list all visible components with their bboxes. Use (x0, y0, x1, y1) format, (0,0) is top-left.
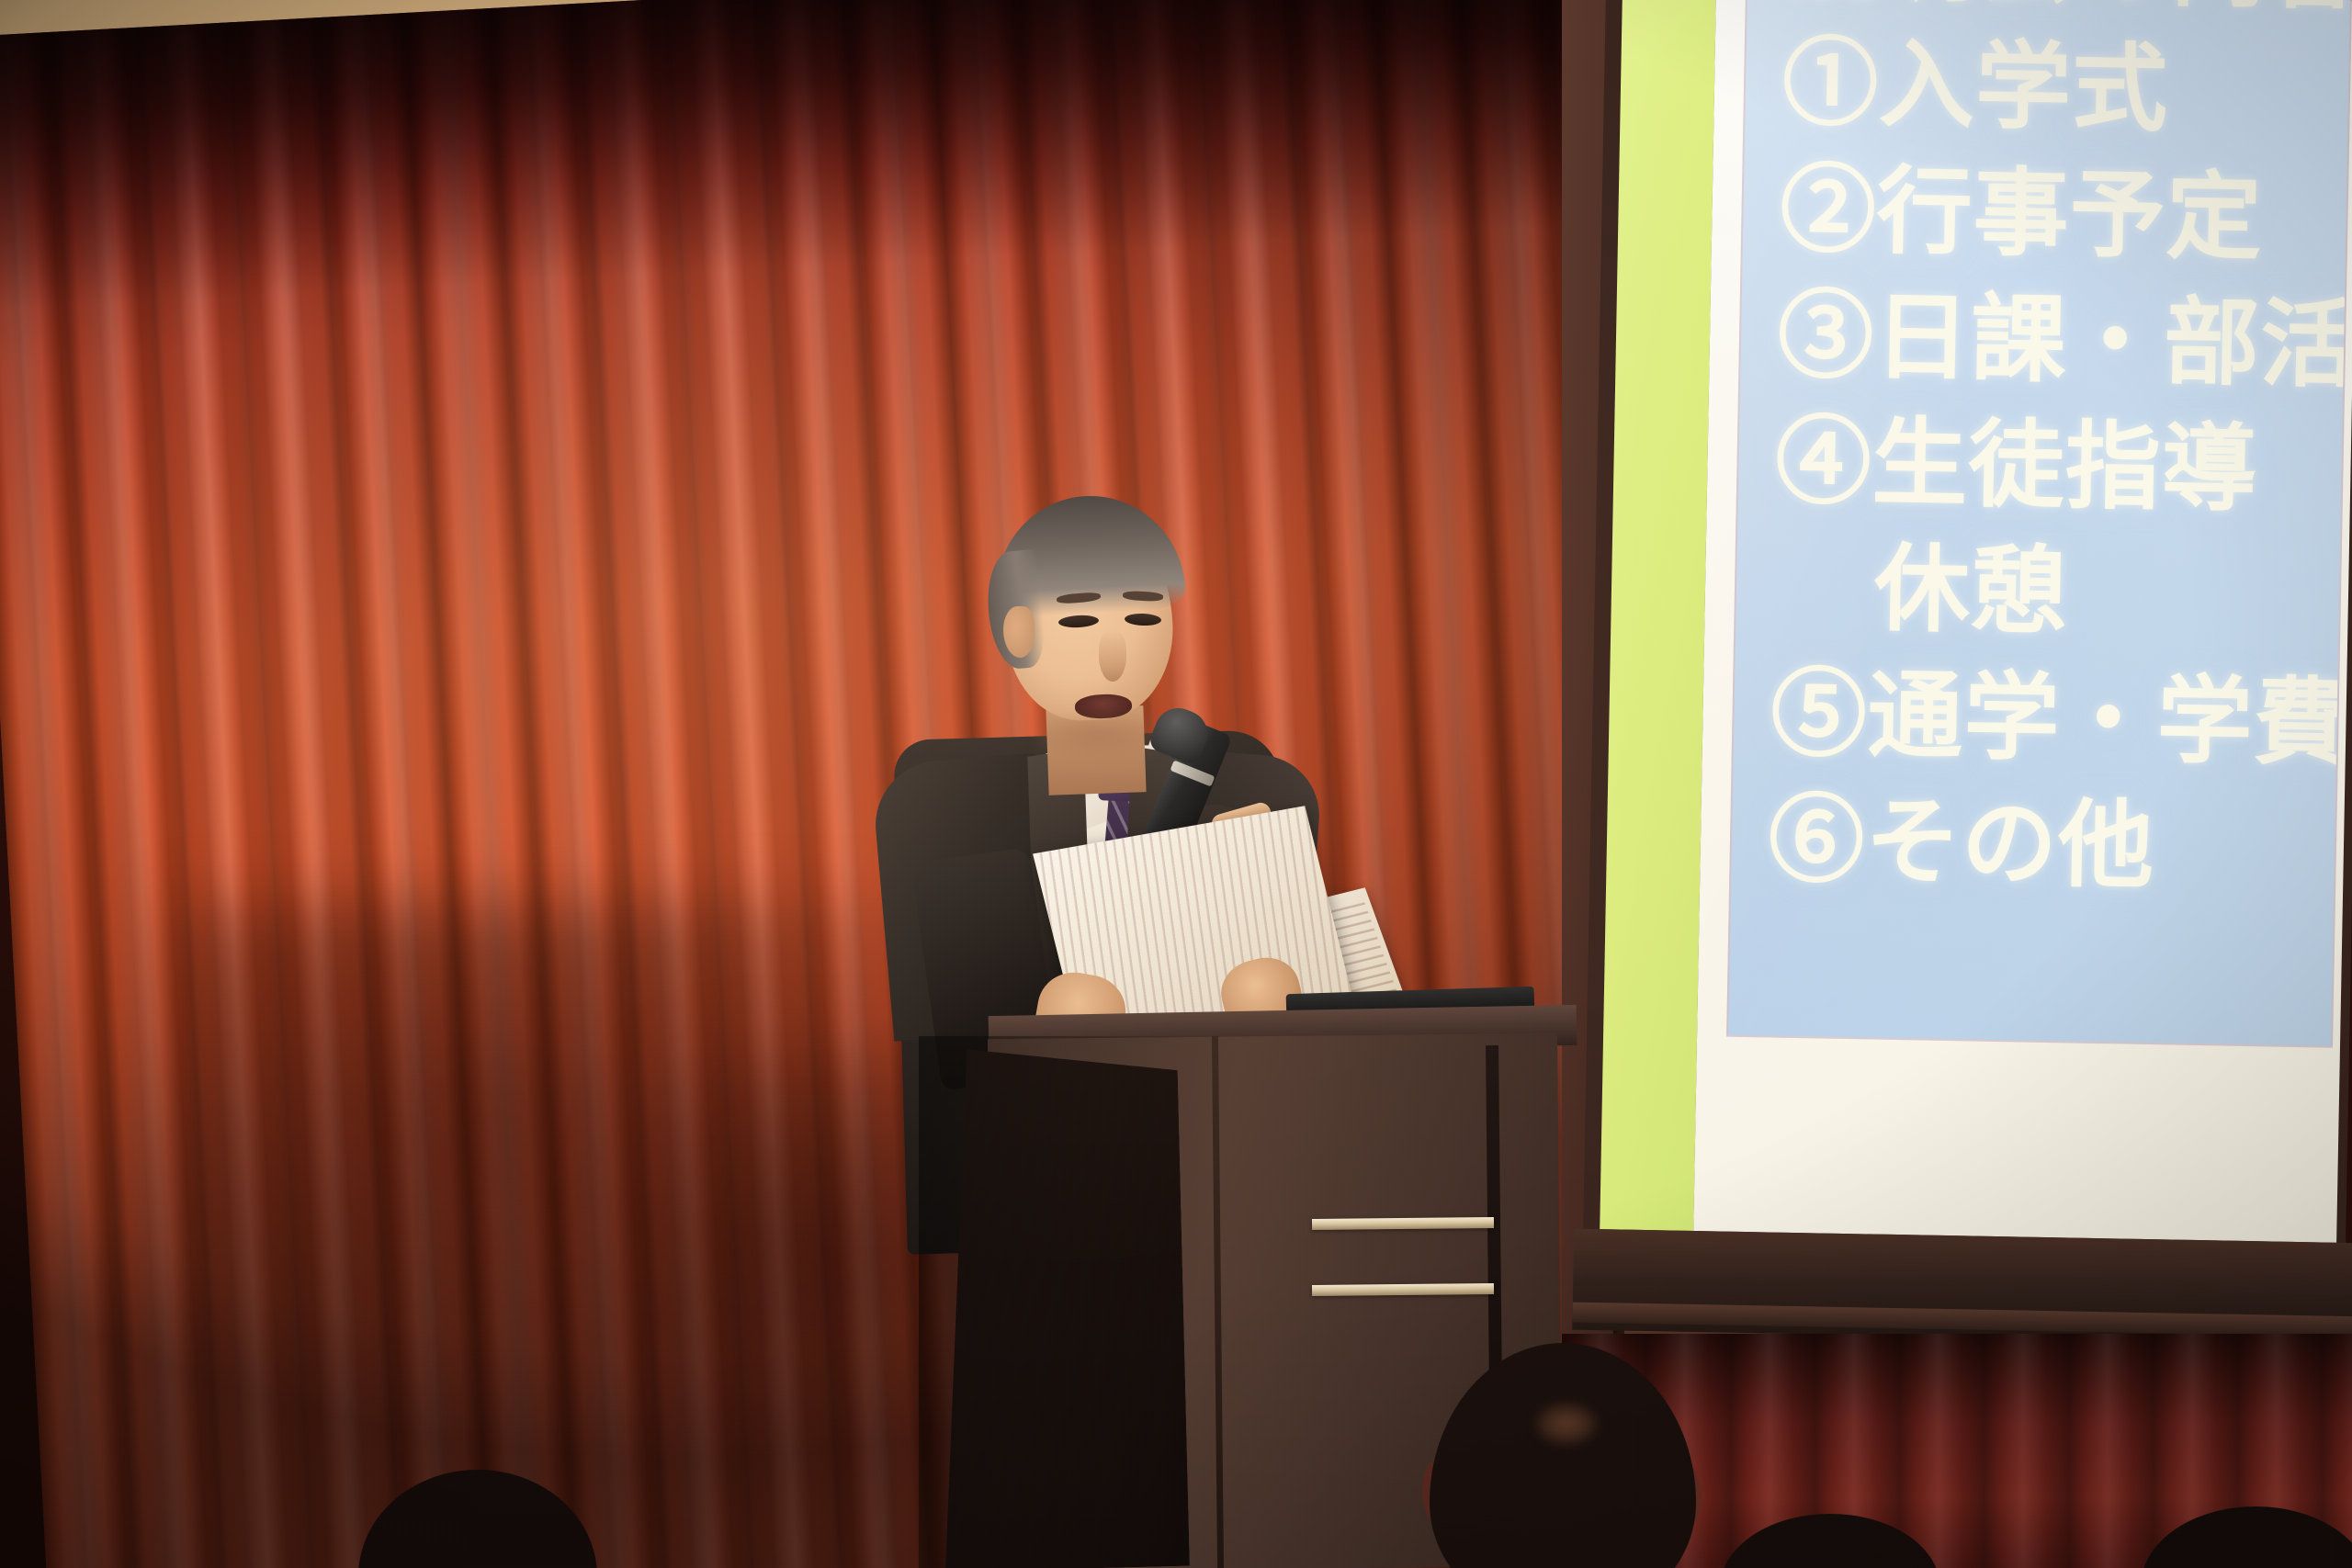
podium-shadowed-front (933, 1044, 1190, 1568)
speaker-chin-shadow (1038, 716, 1158, 753)
speaker-ear (1003, 606, 1035, 658)
audience-head-highlight (1536, 1404, 1597, 1444)
photo-scene: 説明会の内容 ①入学式 ②行事予定 ③日課・部活動 ④生徒指導 休憩 ⑤通学・学… (0, 0, 2352, 1568)
podium-accent-strip-upper (1312, 1217, 1494, 1230)
speaker-nose (1099, 630, 1126, 682)
podium-accent-strip-lower (1312, 1283, 1494, 1296)
